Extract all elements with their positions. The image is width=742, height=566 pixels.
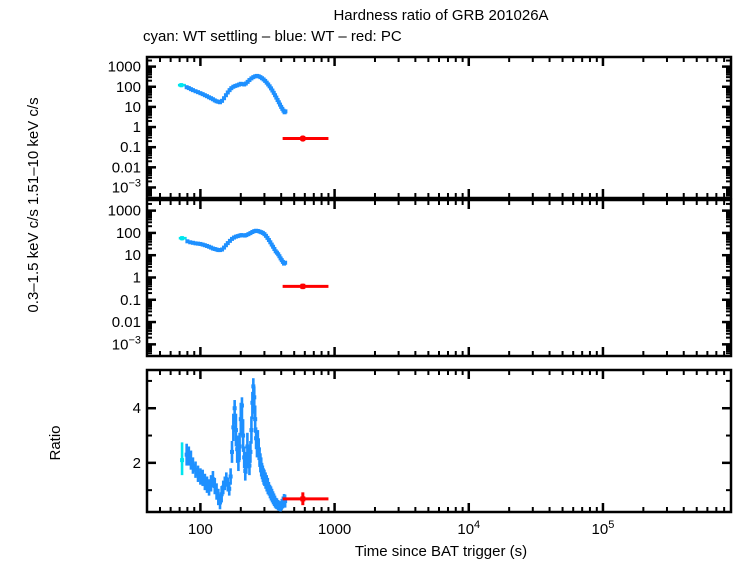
legend-label: cyan: WT settling – blue: WT – red: PC xyxy=(143,28,402,45)
data-point xyxy=(252,395,256,399)
plot-svg: Hardness ratio of GRB 201026A cyan: WT s… xyxy=(0,0,742,566)
data-point xyxy=(234,428,238,432)
y-tick-label: 1 xyxy=(133,269,141,286)
y-tick-label: 0.1 xyxy=(120,139,141,156)
data-point xyxy=(241,434,245,438)
data-point xyxy=(300,496,305,501)
data-point xyxy=(253,417,257,421)
panels-group: 10001001010.10.0110−310001001010.10.0110… xyxy=(108,57,731,538)
y-tick-label: 100 xyxy=(116,225,141,242)
y-tick-label: 10 xyxy=(124,99,141,116)
y-tick-label: 4 xyxy=(133,400,141,417)
data-point xyxy=(283,109,287,113)
data-point xyxy=(180,458,184,462)
panel-hard-band: 10001001010.10.0110−3 xyxy=(108,57,731,198)
y-tick-label: 1000 xyxy=(108,203,141,220)
panel-soft-band: 10001001010.10.0110−3 xyxy=(108,200,731,356)
y-tick-label: 10 xyxy=(124,247,141,264)
data-point xyxy=(300,284,305,289)
figure-root: Hardness ratio of GRB 201026A cyan: WT s… xyxy=(0,0,742,566)
data-point xyxy=(240,404,244,408)
data-point xyxy=(233,406,237,410)
y-tick-label: 2 xyxy=(133,455,141,472)
data-point xyxy=(283,261,287,265)
data-point xyxy=(248,450,252,454)
y-axis-label-ratio: Ratio xyxy=(47,425,64,460)
x-tick-label: 100 xyxy=(188,521,213,538)
data-point xyxy=(229,475,233,479)
y-axis-label-counts: 0.3–1.5 keV c/s 1.51–10 keV c/s xyxy=(25,97,42,312)
data-point xyxy=(230,450,234,454)
y-tick-label: 100 xyxy=(116,79,141,96)
panel-frame-soft-band xyxy=(147,200,731,356)
y-tick-label: 0.01 xyxy=(112,314,141,331)
y-tick-label: 1000 xyxy=(108,59,141,76)
panel-frame-hard-band xyxy=(147,57,731,198)
data-point xyxy=(249,428,253,432)
page-title: Hardness ratio of GRB 201026A xyxy=(333,7,548,24)
y-tick-label: 1 xyxy=(133,119,141,136)
data-point xyxy=(179,83,183,87)
data-point xyxy=(227,487,231,491)
y-tick-label: 0.01 xyxy=(112,159,141,176)
data-point xyxy=(238,444,242,448)
x-tick-label: 1000 xyxy=(318,521,351,538)
data-point xyxy=(247,464,251,468)
x-axis-label: Time since BAT trigger (s) xyxy=(355,543,527,560)
panel-hardness-ratio: 42 xyxy=(133,370,731,512)
data-point xyxy=(180,236,184,240)
data-point xyxy=(300,136,305,141)
y-tick-label: 0.1 xyxy=(120,292,141,309)
